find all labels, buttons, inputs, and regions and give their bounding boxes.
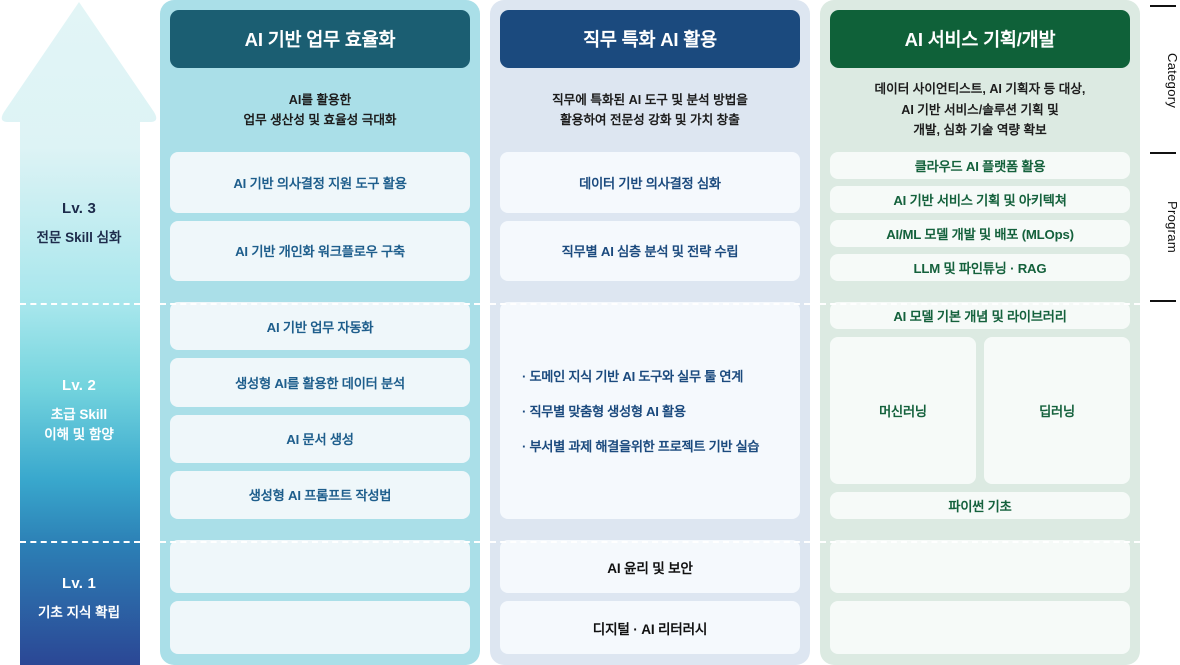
course-card[interactable]: AI 기반 업무 자동화 [170,302,470,350]
bullet-item: · 부서별 과제 해결을위한 프로젝트 기반 실습 [522,436,759,455]
column-b-lv3-group: 데이터 기반 의사결정 심화 직무별 AI 심층 분석 및 전략 수립 [500,152,800,292]
course-card[interactable]: 데이터 기반 의사결정 심화 [500,152,800,213]
column-a-description: AI를 활용한 업무 생산성 및 효율성 극대화 [170,68,470,152]
column-c-title: AI 서비스 기획/개발 [830,10,1130,68]
level-arrow-shape [0,0,158,665]
course-card-empty[interactable] [830,601,1130,654]
column-c-desc-line1: 데이터 사이언티스트, AI 기획자 등 대상, [875,79,1086,99]
level-divider-lv2-lv1 [20,541,140,543]
axis-tick-middle [1150,152,1176,154]
course-card-empty[interactable] [830,540,1130,593]
column-c-lv1-group [830,530,1130,654]
column-b-desc-line1: 직무에 특화된 AI 도구 및 분석 방법을 [552,90,748,110]
column-ai-work-efficiency[interactable]: AI 기반 업무 효율화 AI를 활용한 업무 생산성 및 효율성 극대화 AI… [160,0,480,665]
course-card[interactable]: AI 모델 기본 개념 및 라이브러리 [830,302,1130,329]
column-a-desc-line2: 업무 생산성 및 효율성 극대화 [243,110,396,130]
column-b-title: 직무 특화 AI 활용 [500,10,800,68]
roadmap-canvas: Lv. 3 전문 Skill 심화 Lv. 2 초급 Skill 이해 및 함양… [0,0,1180,665]
course-card-row: 머신러닝 딥러닝 [830,337,1130,484]
course-card-empty[interactable] [170,601,470,654]
course-card[interactable]: AI 기반 개인화 워크플로우 구축 [170,221,470,282]
column-b-lv2-group: · 도메인 지식 기반 AI 도구와 실무 툴 연계 · 직무별 맞춤형 생성형… [500,292,800,530]
course-card[interactable]: 파이썬 기초 [830,492,1130,519]
course-card[interactable]: 클라우드 AI 플랫폼 활용 [830,152,1130,179]
column-c-desc-line3: 개발, 심화 기술 역량 확보 [875,120,1086,140]
course-card-empty[interactable] [170,540,470,593]
column-a-lv2-group: AI 기반 업무 자동화 생성형 AI를 활용한 데이터 분석 AI 문서 생성… [170,292,470,530]
course-card[interactable]: 딥러닝 [984,337,1130,484]
course-card[interactable]: AI 기반 의사결정 지원 도구 활용 [170,152,470,213]
column-c-lv3-group: 클라우드 AI 플랫폼 활용 AI 기반 서비스 기획 및 아키텍쳐 AI/ML… [830,152,1130,292]
column-a-lv3-group: AI 기반 의사결정 지원 도구 활용 AI 기반 개인화 워크플로우 구축 [170,152,470,292]
column-b-lv1-group: AI 윤리 및 보안 디지털 · AI 리터러시 [500,530,800,654]
axis-label-category: Category [1146,44,1180,118]
bullet-item: · 도메인 지식 기반 AI 도구와 실무 툴 연계 [522,366,743,385]
course-card[interactable]: LLM 및 파인튜닝 · RAG [830,254,1130,281]
course-card[interactable]: 생성형 AI를 활용한 데이터 분석 [170,358,470,406]
course-card[interactable]: AI 윤리 및 보안 [500,540,800,593]
course-card-bullets[interactable]: · 도메인 지식 기반 AI 도구와 실무 툴 연계 · 직무별 맞춤형 생성형… [500,302,800,519]
course-card[interactable]: 머신러닝 [830,337,976,484]
right-axis: Category Program [1146,0,1180,665]
column-b-description: 직무에 특화된 AI 도구 및 분석 방법을 활용하여 전문성 강화 및 가치 … [500,68,800,152]
axis-label-program: Program [1146,190,1180,264]
axis-tick-bottom [1150,300,1176,302]
column-a-lv1-group [170,530,470,654]
column-a-desc-line1: AI를 활용한 [243,90,396,110]
column-c-description: 데이터 사이언티스트, AI 기획자 등 대상, AI 기반 서비스/솔루션 기… [830,68,1130,152]
column-a-title: AI 기반 업무 효율화 [170,10,470,68]
course-card[interactable]: 디지털 · AI 리터러시 [500,601,800,654]
axis-tick-top [1150,5,1176,7]
level-arrow: Lv. 3 전문 Skill 심화 Lv. 2 초급 Skill 이해 및 함양… [0,0,158,665]
bullet-item: · 직무별 맞춤형 생성형 AI 활용 [522,401,686,420]
course-card[interactable]: AI 기반 서비스 기획 및 아키텍쳐 [830,186,1130,213]
column-c-desc-line2: AI 기반 서비스/솔루션 기획 및 [875,100,1086,120]
column-job-specific-ai[interactable]: 직무 특화 AI 활용 직무에 특화된 AI 도구 및 분석 방법을 활용하여 … [490,0,810,665]
course-card[interactable]: 직무별 AI 심층 분석 및 전략 수립 [500,221,800,282]
course-card[interactable]: AI 문서 생성 [170,415,470,463]
level-divider-lv3-lv2 [20,303,140,305]
column-c-lv2-group: AI 모델 기본 개념 및 라이브러리 머신러닝 딥러닝 파이썬 기초 [830,292,1130,530]
column-ai-service-planning[interactable]: AI 서비스 기획/개발 데이터 사이언티스트, AI 기획자 등 대상, AI… [820,0,1140,665]
course-card[interactable]: AI/ML 모델 개발 및 배포 (MLOps) [830,220,1130,247]
column-b-desc-line2: 활용하여 전문성 강화 및 가치 창출 [552,110,748,130]
course-card[interactable]: 생성형 AI 프롬프트 작성법 [170,471,470,519]
